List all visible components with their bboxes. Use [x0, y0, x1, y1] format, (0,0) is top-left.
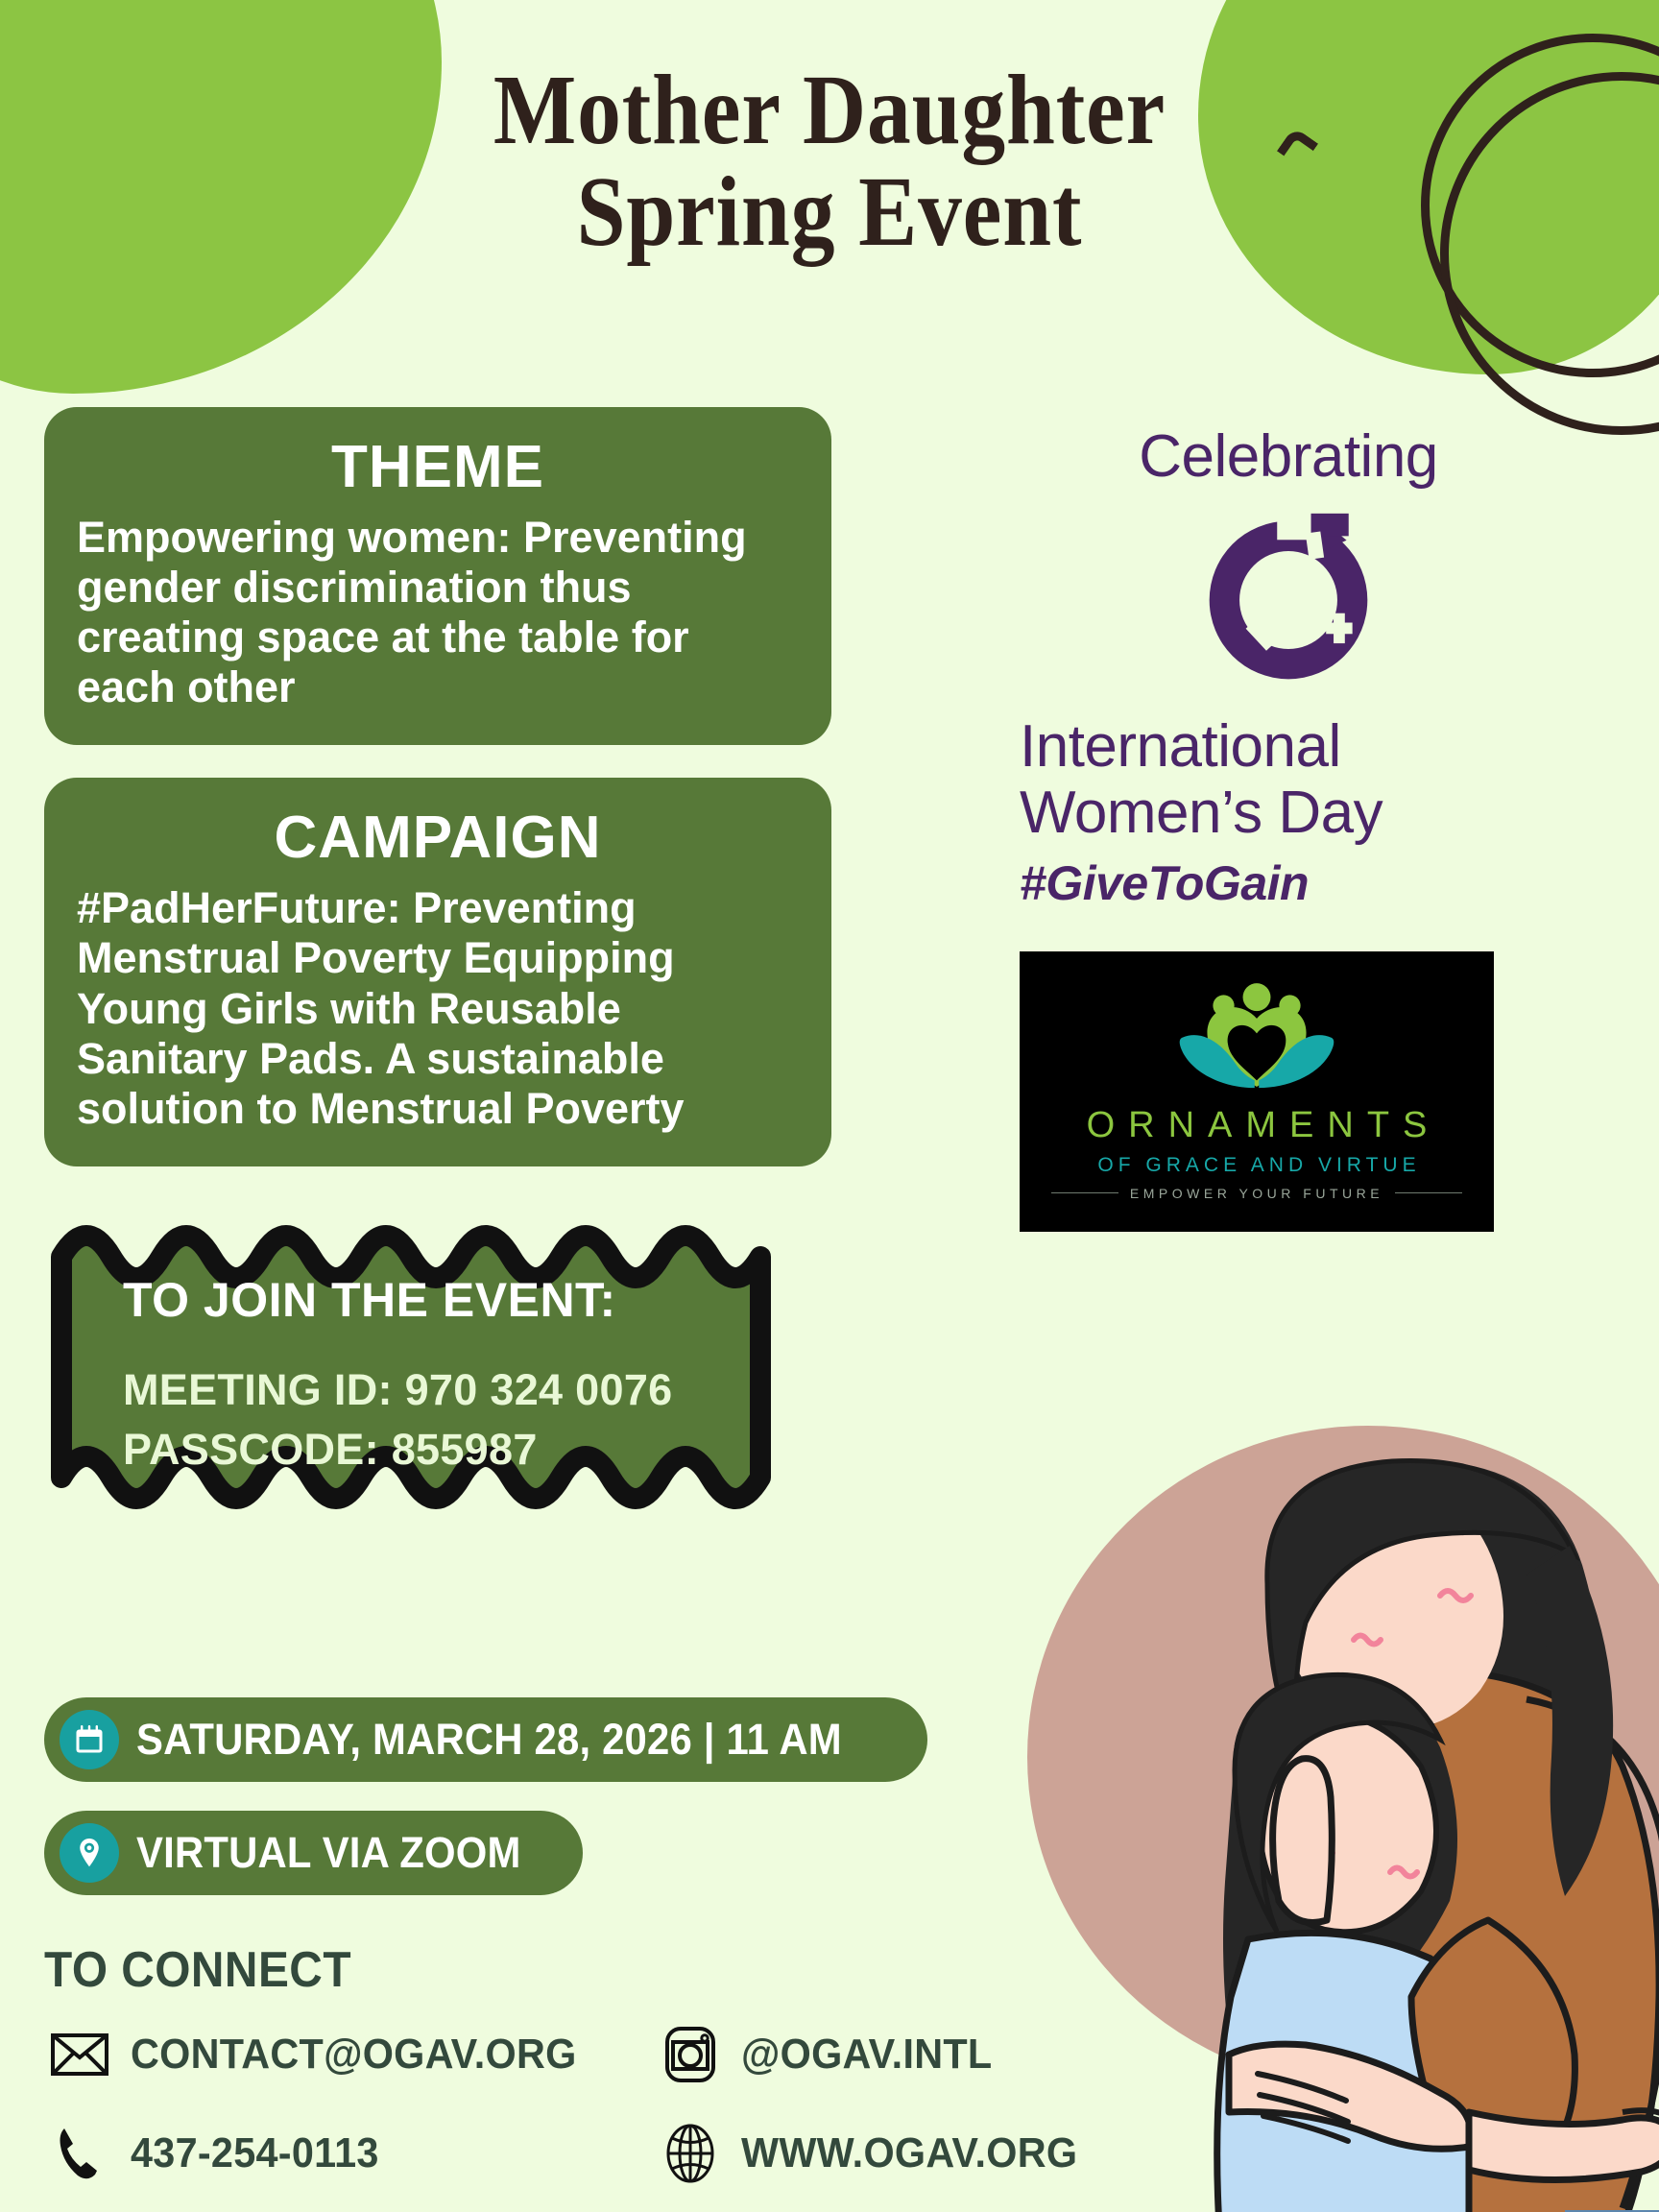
celebrating-label: Celebrating [1020, 422, 1557, 491]
join-event-heading: TO JOIN THE EVENT: [123, 1272, 783, 1328]
left-column: THEME Empowering women: Preventing gende… [44, 407, 831, 1570]
email-text: CONTACT@OGAV.ORG [131, 2031, 577, 2079]
iwd-circular-arrow-venus-icon [1020, 506, 1557, 694]
theme-card-heading: THEME [77, 436, 799, 499]
right-column: Celebrating International Women’s Day #G… [1020, 422, 1557, 1232]
envelope-icon [44, 2032, 115, 2077]
ornaments-subtitle: OF GRACE AND VIRTUE [1093, 1154, 1420, 1177]
iwd-hashtag: #GiveToGain [1020, 855, 1557, 911]
contact-row-2: 437-254-0113 WWW.OGAV.ORG [44, 2124, 1139, 2183]
instagram-contact[interactable]: @OGAV.INTL [655, 2026, 1008, 2083]
contact-list: CONTACT@OGAV.ORG @OGAV.INTL [44, 2026, 1139, 2212]
iwd-name-line-1: International [1020, 715, 1557, 780]
passcode-text: PASSCODE: 855987 [123, 1420, 783, 1479]
phone-text: 437-254-0113 [131, 2129, 379, 2177]
event-location-pill: VIRTUAL VIA ZOOM [44, 1811, 583, 1895]
theme-card-body: Empowering women: Preventing gender disc… [77, 513, 799, 713]
ornaments-wordmark: ORNAMENTS [1073, 1105, 1441, 1146]
join-event-content: TO JOIN THE EVENT: MEETING ID: 970 324 0… [123, 1272, 783, 1479]
meeting-id-text: MEETING ID: 970 324 0076 [123, 1360, 783, 1420]
tagline-rule-right [1395, 1192, 1462, 1193]
map-pin-icon [60, 1823, 119, 1883]
iwd-name-line-2: Women’s Day [1020, 781, 1557, 846]
ornaments-tagline-row: EMPOWER YOUR FUTURE [1051, 1186, 1462, 1201]
ornaments-logo-card: ORNAMENTS OF GRACE AND VIRTUE EMPOWER YO… [1020, 951, 1494, 1232]
theme-card: THEME Empowering women: Preventing gende… [44, 407, 831, 745]
phone-icon [44, 2125, 115, 2182]
event-location-text: VIRTUAL VIA ZOOM [136, 1828, 521, 1878]
contact-row-1: CONTACT@OGAV.ORG @OGAV.INTL [44, 2026, 1139, 2083]
email-contact[interactable]: CONTACT@OGAV.ORG [44, 2031, 655, 2079]
poster-canvas: Mother Daughter Spring Event THEME Empow… [0, 0, 1659, 2212]
campaign-card: CAMPAIGN #PadHerFuture: Preventing Menst… [44, 778, 831, 1166]
campaign-card-body: #PadHerFuture: Preventing Menstrual Pove… [77, 883, 799, 1134]
title-line-1: Mother Daughter [100, 60, 1560, 161]
poster-title: Mother Daughter Spring Event [0, 60, 1659, 263]
event-date-pill: SATURDAY, MARCH 28, 2026 | 11 AM [44, 1697, 927, 1782]
instagram-text: @OGAV.INTL [741, 2031, 992, 2079]
tagline-rule-left [1051, 1192, 1118, 1193]
campaign-card-heading: CAMPAIGN [77, 806, 799, 870]
join-event-box: TO JOIN THE EVENT: MEETING ID: 970 324 0… [44, 1199, 851, 1570]
ornaments-tagline: EMPOWER YOUR FUTURE [1130, 1186, 1383, 1201]
phone-contact[interactable]: 437-254-0113 [44, 2125, 655, 2182]
calendar-icon [60, 1710, 119, 1769]
mother-daughter-hugging-illustration [989, 1382, 1659, 2212]
ornaments-people-heart-hands-icon [1171, 982, 1342, 1095]
globe-icon [655, 2124, 726, 2183]
title-line-2: Spring Event [100, 161, 1560, 263]
event-date-text: SATURDAY, MARCH 28, 2026 | 11 AM [136, 1715, 842, 1765]
instagram-icon [655, 2026, 726, 2083]
connect-heading: TO CONNECT [44, 1941, 351, 1999]
